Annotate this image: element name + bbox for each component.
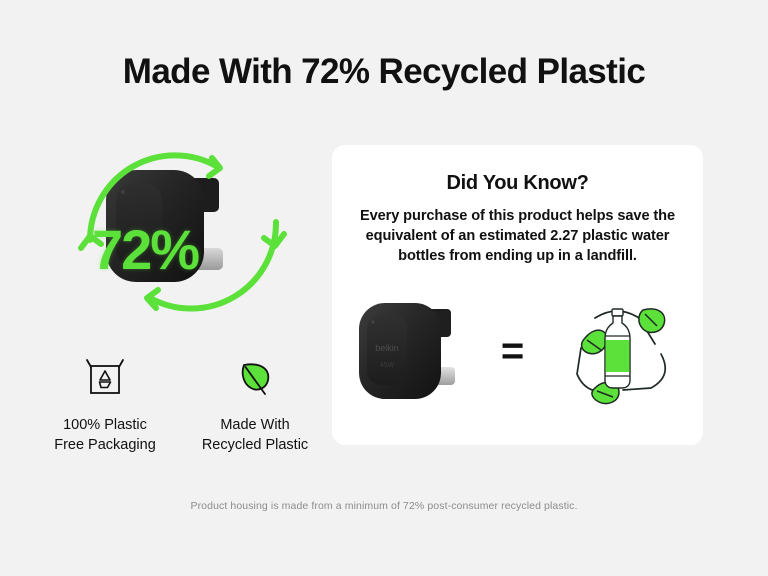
recycle-triangle-with-bottle-icon xyxy=(547,292,687,414)
feature-list: 100% Plastic Free Packaging Made With Re… xyxy=(30,352,330,455)
feature-label-line2: Recycled Plastic xyxy=(202,437,308,453)
did-you-know-card: Did You Know? Every purchase of this pro… xyxy=(332,145,703,445)
leaf-icon xyxy=(232,352,278,404)
card-title: Did You Know? xyxy=(332,172,703,195)
charger-wall-adapter-icon: belkin 45W xyxy=(349,295,479,411)
brand-mark: belkin xyxy=(375,343,399,353)
plastic-free-packaging-icon xyxy=(83,352,127,404)
feature-label-line2: Free Packaging xyxy=(54,437,156,453)
recycled-percent-value: 72% xyxy=(30,222,260,278)
card-body-text: Every purchase of this product helps sav… xyxy=(348,206,688,266)
page-title: Made With 72% Recycled Plastic xyxy=(0,52,768,92)
feature-label-line1: Made With xyxy=(220,417,289,433)
wattage-mark: 45W xyxy=(379,362,394,369)
equals-sign: = xyxy=(493,331,533,371)
equivalence-equation: belkin 45W = xyxy=(332,283,703,423)
feature-label: Made With Recycled Plastic xyxy=(202,416,308,455)
hero-section: 72% 100% Plastic Free Packaging xyxy=(30,130,330,460)
water-bottle-icon xyxy=(605,309,630,388)
footnote: Product housing is made from a minimum o… xyxy=(0,500,768,512)
feature-plastic-free-packaging: 100% Plastic Free Packaging xyxy=(30,352,180,455)
feature-made-with-recycled-plastic: Made With Recycled Plastic xyxy=(180,352,330,455)
feature-label: 100% Plastic Free Packaging xyxy=(54,416,156,455)
feature-label-line1: 100% Plastic xyxy=(63,417,147,433)
